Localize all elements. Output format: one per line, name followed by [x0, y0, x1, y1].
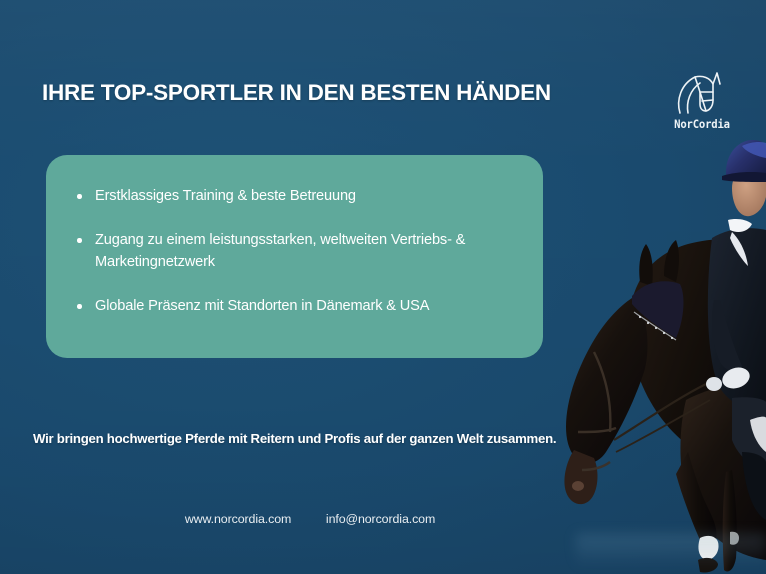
horse-ear-left [639, 244, 653, 286]
logo-wordmark: NorCordia [667, 117, 737, 131]
horse-ear-bonnet [632, 281, 683, 338]
horse-neck [630, 239, 766, 470]
page-title: IHRE TOP-SPORTLER IN DEN BESTEN HÄNDEN [42, 80, 551, 106]
horse-head-icon [673, 70, 731, 116]
horse-foreleg-raised [676, 452, 717, 546]
rider-face [732, 168, 766, 216]
helmet-highlight [742, 142, 766, 158]
bullet-icon [77, 304, 82, 309]
rider-glove [720, 364, 753, 392]
rider-boot [742, 452, 766, 520]
rider-arm [712, 300, 742, 371]
brand-logo: NorCordia [664, 70, 740, 136]
bonnet-trim [634, 312, 676, 340]
features-card: Erstklassiges Training & beste Betreuung… [46, 155, 543, 358]
rider-stock-tie [728, 219, 752, 232]
bonnet-bling [639, 316, 673, 339]
rider-jacket [708, 228, 766, 410]
horse-leg-marking [730, 532, 739, 545]
bullet-icon [77, 194, 82, 199]
bridle [578, 352, 616, 470]
horse-hoof [698, 558, 718, 573]
horse-ear-right [664, 240, 679, 282]
footer-contacts: www.norcordia.com info@norcordia.com [0, 512, 620, 526]
horse-body [680, 385, 766, 560]
feature-text: Zugang zu einem leistungsstarken, weltwe… [95, 232, 465, 270]
feature-item: Globale Präsenz mit Standorten in Dänema… [63, 295, 517, 317]
saddle-pad [750, 417, 766, 452]
rider-helmet [726, 140, 766, 180]
promo-banner: IHRE TOP-SPORTLER IN DEN BESTEN HÄNDEN N… [0, 0, 766, 574]
feature-item: Erstklassiges Training & beste Betreuung [63, 185, 517, 207]
reins [614, 384, 706, 440]
photo-bottom-glow [576, 534, 766, 574]
horse-head [566, 298, 647, 463]
horse-leg-standing [723, 470, 737, 572]
rider-breeches [732, 397, 766, 470]
rider-shirt [730, 232, 748, 266]
feature-item: Zugang zu einem leistungsstarken, weltwe… [63, 229, 517, 273]
website-link[interactable]: www.norcordia.com [185, 512, 291, 526]
feature-text: Globale Präsenz mit Standorten in Dänema… [95, 298, 429, 314]
feature-text: Erstklassiges Training & beste Betreuung [95, 188, 356, 204]
email-link[interactable]: info@norcordia.com [326, 512, 435, 526]
horse-nostril [572, 481, 584, 491]
tagline: Wir bringen hochwertige Pferde mit Reite… [33, 431, 556, 446]
bullet-icon [77, 238, 82, 243]
rider-glove-second [706, 377, 722, 391]
horse-white-sock [698, 536, 718, 560]
helmet-brim [722, 172, 766, 182]
horse-muzzle [564, 450, 597, 504]
reins-secondary [616, 400, 710, 452]
